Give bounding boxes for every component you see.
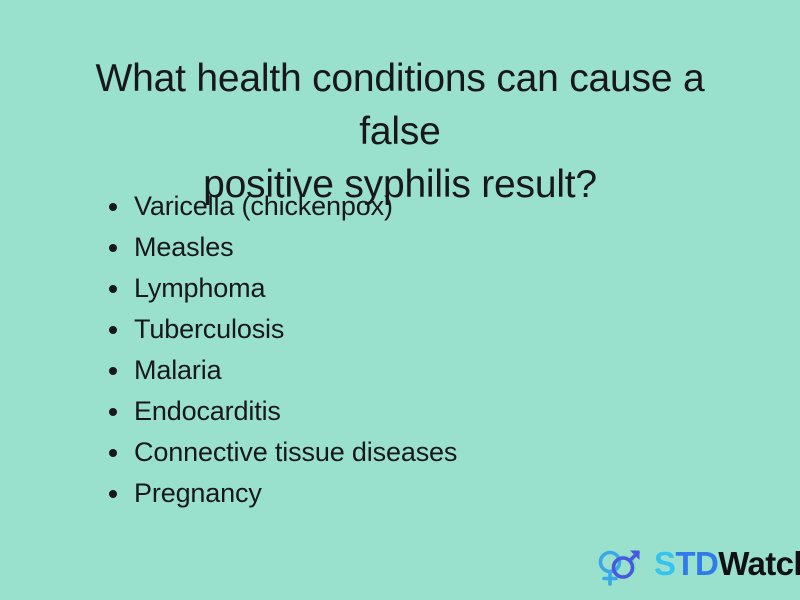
list-item: Tuberculosis [101,309,741,350]
gender-symbols-icon [594,540,650,588]
list-item: Endocarditis [101,391,741,432]
logo-letter-t: TD [675,545,718,582]
bullet-point-icon [109,367,117,375]
list-item-label: Malaria [134,355,221,385]
bullet-point-icon [109,244,117,252]
list-item-label: Tuberculosis [134,314,284,344]
slide-canvas: What health conditions can cause a false… [0,0,800,600]
list-item-label: Varicella (chickenpox) [134,191,393,221]
logo-wordmark: STDWatch [654,540,800,588]
logo-letter-s: S [654,545,675,582]
bullet-point-icon [109,449,117,457]
list-item: Lymphoma [101,268,741,309]
list-item: Connective tissue diseases [101,432,741,473]
logo-word-watch: Watch [718,545,800,582]
list-item: Measles [101,227,741,268]
bullet-point-icon [109,490,117,498]
bullet-point-icon [109,285,117,293]
list-item-label: Pregnancy [134,478,262,508]
list-item: Pregnancy [101,473,741,514]
bullet-point-icon [109,326,117,334]
list-item-label: Lymphoma [134,273,265,303]
list-item: Varicella (chickenpox) [101,186,741,227]
brand-logo[interactable]: STDWatch [594,540,800,588]
list-item-label: Measles [134,232,234,262]
bullet-point-icon [109,408,117,416]
list-item-label: Connective tissue diseases [134,437,457,467]
bullet-point-icon [109,203,117,211]
list-item-label: Endocarditis [134,396,281,426]
list-item: Malaria [101,350,741,391]
conditions-list: Varicella (chickenpox) Measles Lymphoma … [101,186,741,514]
